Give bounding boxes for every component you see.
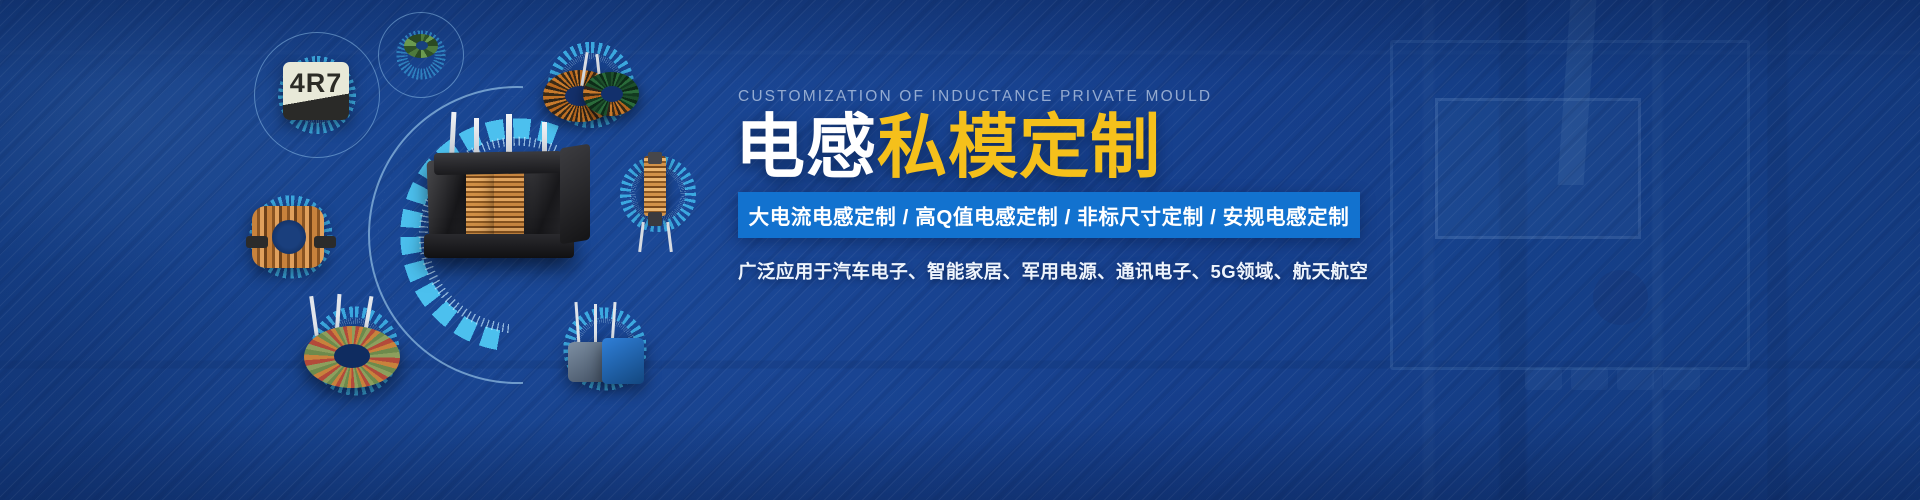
inductance-banner: 4R7 — [0, 0, 1920, 500]
headline-white-part: 电感 — [735, 108, 877, 186]
product-radial-blue-inductor — [566, 302, 646, 388]
product-toroidal-inductor-green-red — [300, 296, 408, 388]
smd-marking-label: 4R7 — [290, 68, 343, 99]
banner-description: 广泛应用于汽车电子、智能家居、军用电源、通讯电子、5G领域、航天航空 — [738, 258, 1368, 284]
banner-eyebrow-english: CUSTOMIZATION OF INDUCTANCE PRIVATE MOUL… — [738, 88, 1212, 106]
banner-headline: 电感私模定制 — [735, 112, 1161, 182]
banner-feature-bar: 大电流电感定制 / 高Q值电感定制 / 非标尺寸定制 / 安规电感定制 — [738, 192, 1360, 238]
product-smd-power-inductor: 4R7 — [283, 62, 349, 120]
feature-bar-text: 大电流电感定制 / 高Q值电感定制 / 非标尺寸定制 / 安规电感定制 — [749, 200, 1350, 230]
product-flat-wire-inductor — [246, 192, 338, 282]
headline-gold-part: 私模定制 — [877, 108, 1161, 186]
product-rod-core-inductor — [618, 156, 700, 252]
banner-text-block: CUSTOMIZATION OF INDUCTANCE PRIVATE MOUL… — [735, 0, 1435, 500]
product-common-mode-choke-cluster — [414, 112, 594, 272]
product-toroidal-inductor-copper — [404, 28, 438, 58]
